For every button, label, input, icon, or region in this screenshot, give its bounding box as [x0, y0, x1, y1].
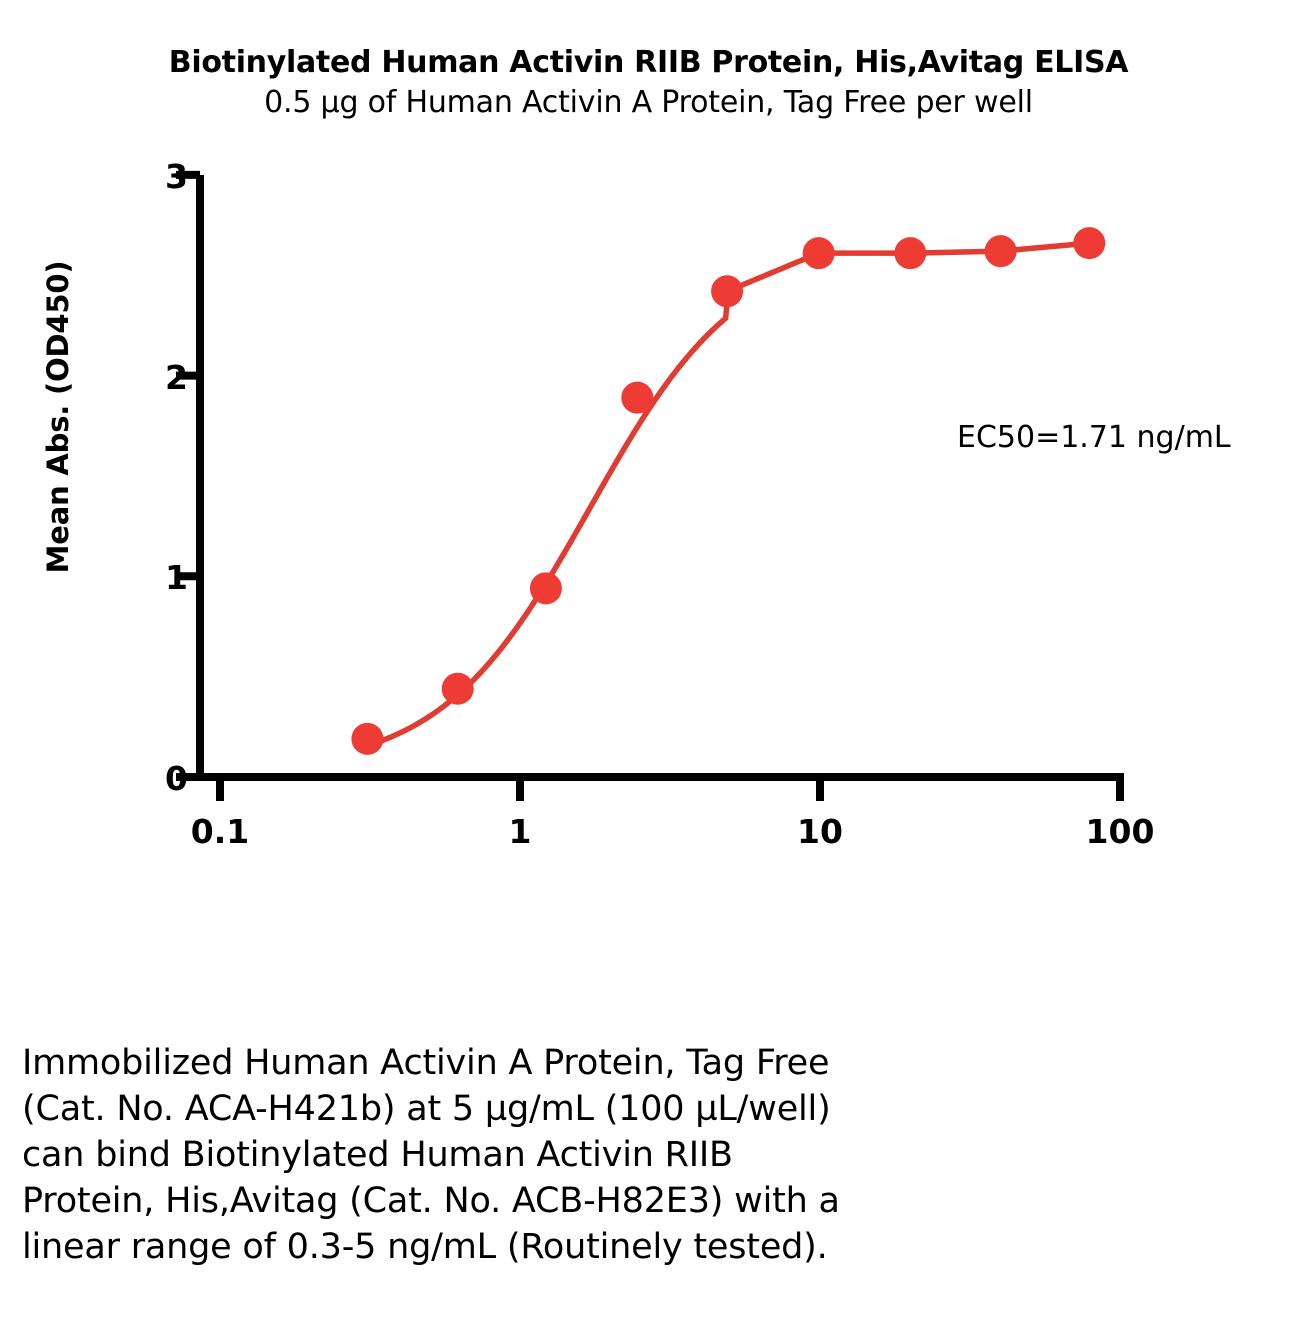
plot-area: [0, 0, 1297, 1000]
caption-line-3: Protein, His,Avitag (Cat. No. ACB-H82E3)…: [22, 1178, 1142, 1224]
figure-caption: Immobilized Human Activin A Protein, Tag…: [22, 1040, 1142, 1270]
data-point: [442, 673, 474, 705]
elisa-figure: Biotinylated Human Activin RIIB Protein,…: [0, 0, 1297, 1322]
axes-spines: [196, 175, 1124, 777]
data-markers: [351, 227, 1105, 755]
caption-line-1: (Cat. No. ACA-H421b) at 5 µg/mL (100 µL/…: [22, 1086, 1142, 1132]
data-point: [711, 275, 743, 307]
data-point: [985, 235, 1017, 267]
caption-line-0: Immobilized Human Activin A Protein, Tag…: [22, 1040, 1142, 1086]
data-point: [894, 237, 926, 269]
data-point: [621, 382, 653, 414]
data-point: [803, 237, 835, 269]
data-point: [351, 723, 383, 755]
fit-curve: [367, 243, 1089, 746]
caption-line-2: can bind Biotinylated Human Activin RIIB: [22, 1132, 1142, 1178]
data-point: [530, 572, 562, 604]
data-point: [1073, 227, 1105, 259]
caption-line-4: linear range of 0.3-5 ng/mL (Routinely t…: [22, 1224, 1142, 1270]
